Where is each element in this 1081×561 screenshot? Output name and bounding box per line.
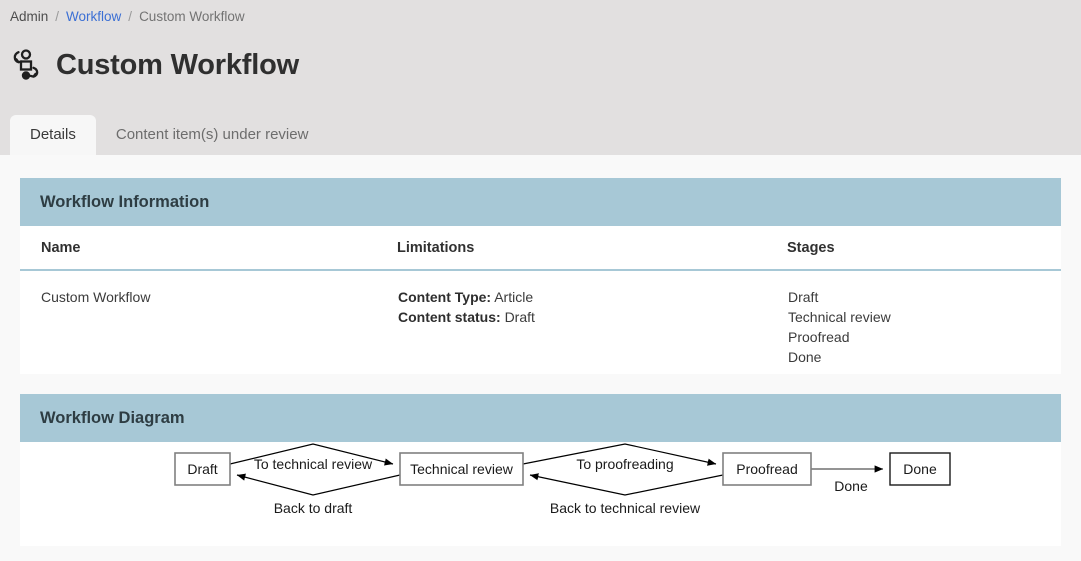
workflow-information-table: Name Limitations Stages Custom Workflow … xyxy=(20,226,1061,368)
workflow-information-header: Workflow Information xyxy=(20,178,1061,226)
table-header-row: Name Limitations Stages xyxy=(20,226,1061,270)
breadcrumb: Admin/Workflow/Custom Workflow xyxy=(10,8,245,26)
limitation-content-status: Content status: Draft xyxy=(398,307,786,327)
limitation-content-status-key: Content status: xyxy=(398,309,501,325)
edge-proofread-to-technical-review xyxy=(530,475,723,495)
breadcrumb-link-workflow[interactable]: Workflow xyxy=(66,9,121,24)
breadcrumb-separator-2: / xyxy=(128,9,132,24)
content-area: Workflow Information Name Limitations St… xyxy=(0,155,1081,561)
stage-item: Proofread xyxy=(788,327,1060,347)
limitation-content-status-value: Draft xyxy=(505,309,535,325)
workflow-diagram-header: Workflow Diagram xyxy=(20,394,1061,442)
column-header-limitations: Limitations xyxy=(397,226,787,270)
workflow-icon xyxy=(10,49,42,81)
limitation-content-type: Content Type: Article xyxy=(398,287,786,307)
workflow-diagram-body: Draft Technical review Proofread Done To… xyxy=(20,442,1061,546)
table-row: Custom Workflow Content Type: Article Co… xyxy=(20,270,1061,368)
cell-limitations: Content Type: Article Content status: Dr… xyxy=(397,270,787,368)
workflow-information-panel: Workflow Information Name Limitations St… xyxy=(20,178,1061,374)
diagram-node-label-done: Done xyxy=(903,461,937,477)
tab-content-items-under-review[interactable]: Content item(s) under review xyxy=(96,115,329,155)
workflow-diagram-title: Workflow Diagram xyxy=(40,409,185,428)
edge-label-back-to-draft: Back to draft xyxy=(274,500,353,516)
stage-item: Draft xyxy=(788,287,1060,307)
stage-item: Technical review xyxy=(788,307,1060,327)
diagram-node-label-technical-review: Technical review xyxy=(410,461,514,477)
stage-item: Done xyxy=(788,347,1060,367)
page-title-row: Custom Workflow xyxy=(10,48,299,82)
breadcrumb-separator-1: / xyxy=(55,9,59,24)
breadcrumb-current: Custom Workflow xyxy=(139,9,245,24)
tab-details[interactable]: Details xyxy=(10,115,96,155)
edge-technical-review-to-draft xyxy=(237,475,400,495)
column-header-name: Name xyxy=(20,226,397,270)
column-header-stages: Stages xyxy=(787,226,1061,270)
workflow-diagram-panel: Workflow Diagram xyxy=(20,394,1061,546)
limitation-content-type-key: Content Type: xyxy=(398,289,491,305)
cell-stages: Draft Technical review Proofread Done xyxy=(787,270,1061,368)
cell-name: Custom Workflow xyxy=(20,270,397,368)
page-title: Custom Workflow xyxy=(56,48,299,82)
breadcrumb-root[interactable]: Admin xyxy=(10,9,48,24)
tab-bar: Details Content item(s) under review xyxy=(0,115,1081,155)
workflow-diagram-graphic: Draft Technical review Proofread Done To… xyxy=(20,442,1061,546)
edge-label-to-proofreading: To proofreading xyxy=(576,456,673,472)
diagram-node-label-draft: Draft xyxy=(187,461,217,477)
limitation-content-type-value: Article xyxy=(494,289,533,305)
edge-label-back-to-technical-review: Back to technical review xyxy=(550,500,701,516)
workflow-information-title: Workflow Information xyxy=(40,193,209,212)
edge-label-done: Done xyxy=(834,478,868,494)
diagram-node-label-proofread: Proofread xyxy=(736,461,797,477)
edge-label-to-technical-review: To technical review xyxy=(254,456,373,472)
